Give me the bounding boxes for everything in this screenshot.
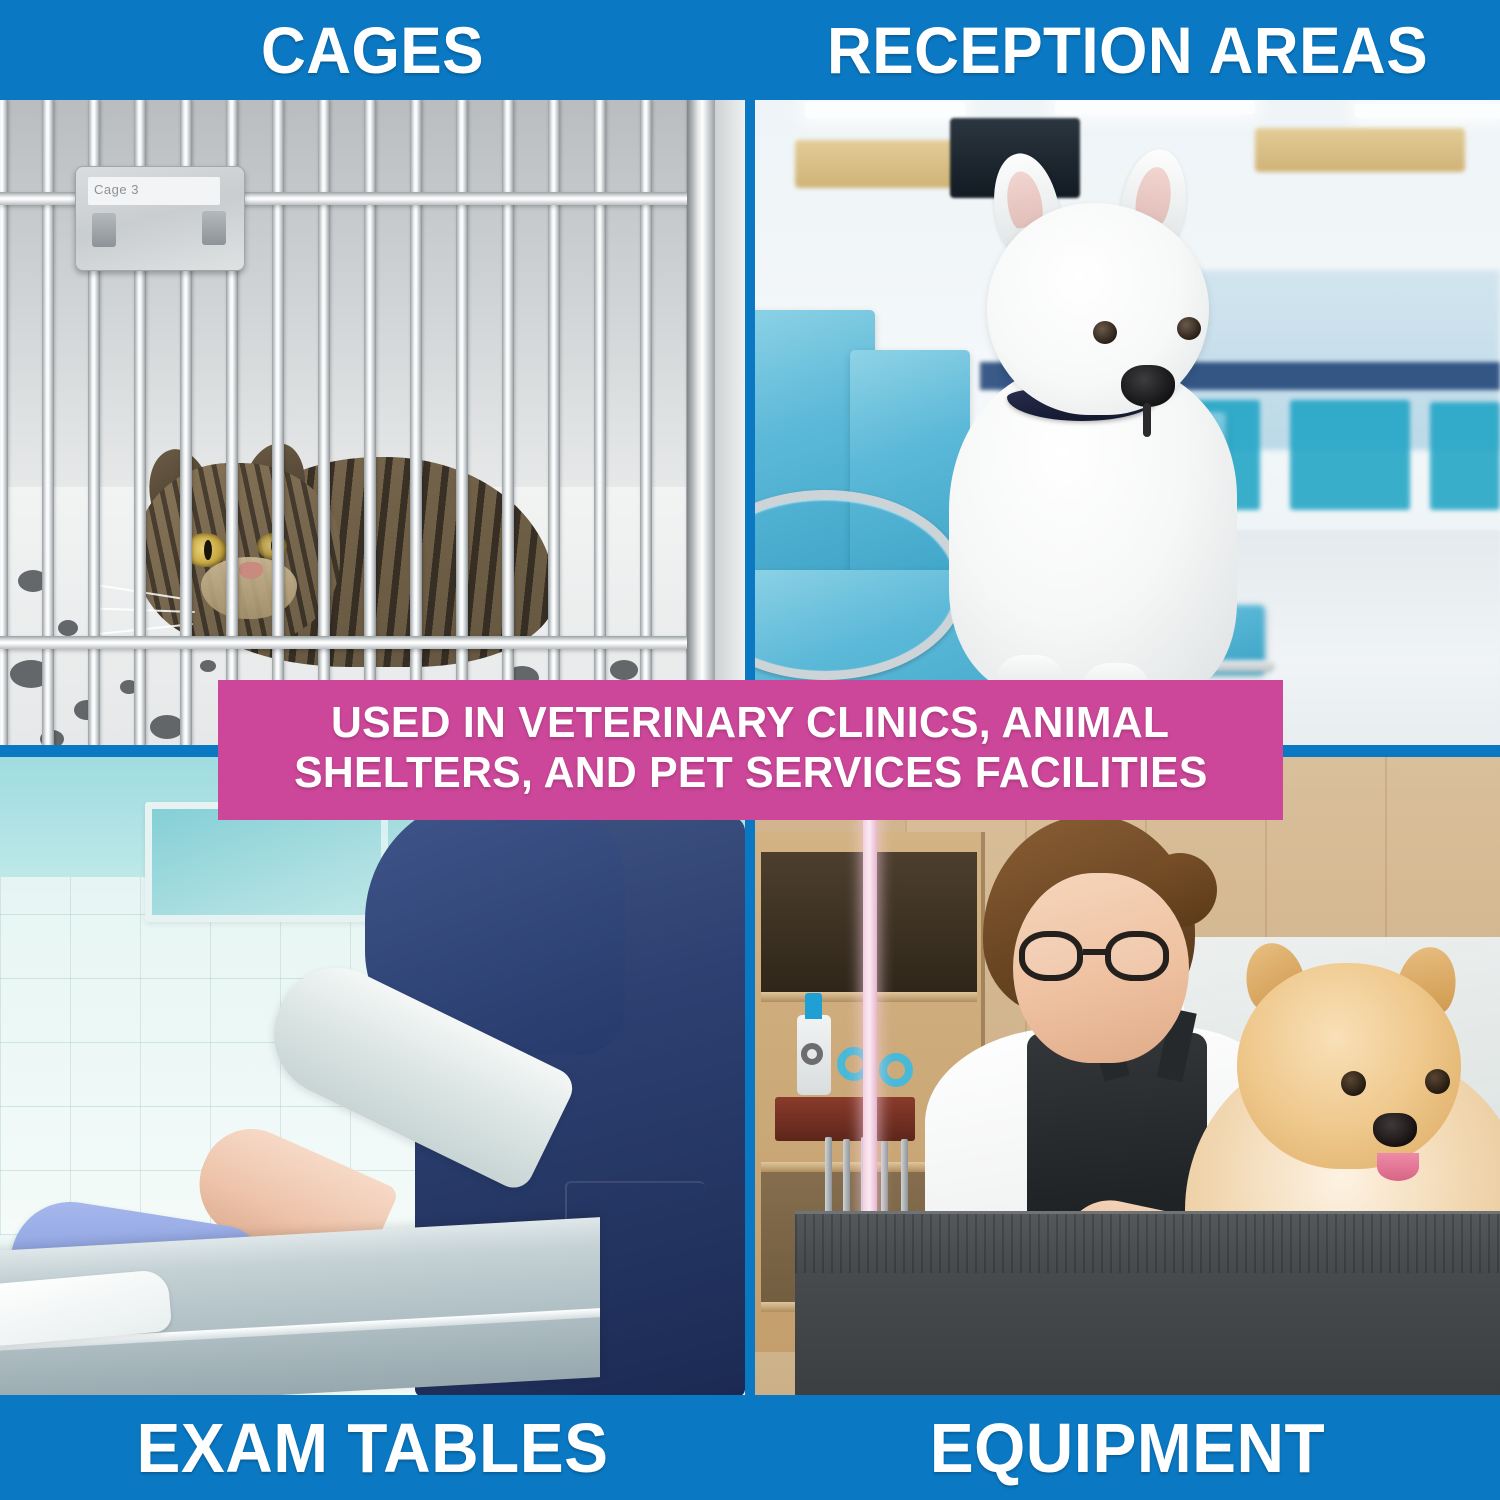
heading-equipment-label: EQUIPMENT [930, 1408, 1325, 1488]
reception-panel-2 [1290, 400, 1410, 510]
cage-id-card-label: Cage 3 [94, 182, 139, 197]
grooming-scene [755, 757, 1500, 1395]
cage-scene: Cage 3 [0, 100, 745, 745]
bedding-spot [18, 570, 48, 592]
heading-exam-tables-label: EXAM TABLES [137, 1408, 609, 1488]
glasses-lens-left [1019, 931, 1083, 981]
pomeranian-tongue [1377, 1153, 1419, 1181]
reception-sign-right [1255, 128, 1465, 172]
usage-banner-line-1: USED IN VETERINARY CLINICS, ANIMAL [331, 698, 1169, 748]
photo-tile-cages: Cage 3 [0, 100, 745, 745]
cat-head [135, 463, 340, 645]
pomeranian-head [1237, 963, 1461, 1169]
scissors-ring-right [879, 1053, 913, 1087]
cat-eye-right [257, 533, 287, 559]
heading-exam-tables: EXAM TABLES [22, 1395, 722, 1500]
grooming-tool-rack [775, 1097, 915, 1141]
heading-reception-areas: RECEPTION AREAS [777, 0, 1477, 100]
bedding-spot [40, 730, 64, 745]
pomeranian-nose [1373, 1113, 1417, 1147]
westie-nose [1121, 365, 1175, 407]
cage-bar-horizontal-bottom [0, 636, 745, 649]
bottle-cap [805, 993, 822, 1019]
ceiling-light-1 [805, 102, 965, 118]
bedding-spot [120, 680, 138, 694]
westie-eye-right [1177, 317, 1201, 340]
westie-dog-illustration [935, 155, 1265, 715]
usage-banner: USED IN VETERINARY CLINICS, ANIMAL SHELT… [218, 680, 1283, 820]
usage-banner-line-2: SHELTERS, AND PET SERVICES FACILITIES [294, 748, 1208, 798]
heading-cages: CAGES [22, 0, 722, 100]
photo-tile-reception-areas [755, 100, 1500, 745]
cat-nose [239, 562, 263, 579]
glasses-lens-right [1105, 931, 1169, 981]
bedding-spot [10, 660, 52, 688]
pomeranian-eye-right [1425, 1069, 1450, 1094]
cage-frame-far-right [715, 100, 745, 745]
exam-table-scene [0, 757, 745, 1395]
cage-card-clip-left [92, 213, 116, 247]
bedding-spot [610, 660, 638, 680]
ceiling-light-3 [1355, 104, 1500, 118]
groomer-glasses-icon [1013, 931, 1189, 983]
grooming-table-surface [795, 1211, 1500, 1273]
cage-id-card-holder: Cage 3 [75, 166, 245, 271]
pomeranian-eye-left [1341, 1071, 1366, 1096]
heading-equipment: EQUIPMENT [777, 1395, 1477, 1500]
westie-head [987, 203, 1209, 415]
infographic-canvas: CAGES RECEPTION AREAS [0, 0, 1500, 1500]
reception-panel-3 [1430, 402, 1500, 510]
heading-reception-areas-label: RECEPTION AREAS [827, 12, 1428, 88]
cage-card-clip-right [202, 211, 226, 245]
cat-illustration [135, 407, 555, 667]
photo-tile-exam-tables [0, 757, 745, 1395]
reception-scene [755, 100, 1500, 745]
westie-eye-left [1093, 321, 1117, 344]
bedding-spot [58, 620, 78, 636]
ceiling-light-2 [1055, 100, 1255, 114]
cage-frame-right [687, 100, 715, 745]
heading-cages-label: CAGES [261, 12, 484, 88]
scissors-ring-dark [801, 1043, 823, 1065]
westie-mouth [1143, 403, 1151, 437]
glasses-bridge [1083, 949, 1107, 955]
bedding-spot [74, 700, 100, 720]
bedding-spot [150, 715, 184, 739]
photo-tile-equipment [755, 757, 1500, 1395]
cat-eye-left [183, 533, 227, 567]
